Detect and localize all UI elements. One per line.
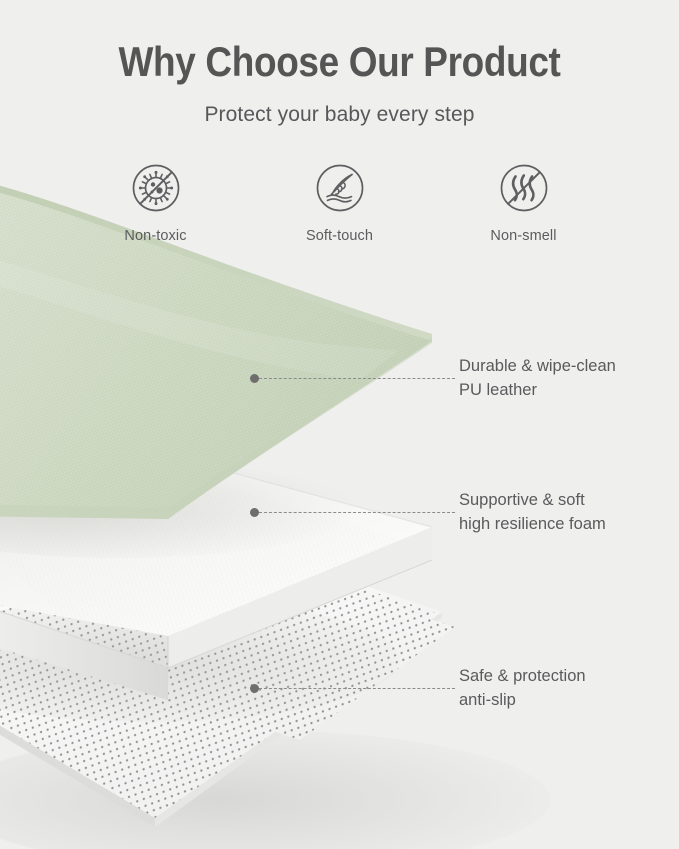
feature-label: Soft-touch: [306, 228, 373, 244]
callout-line-2: anti-slip: [459, 688, 586, 712]
callout-line-1: Durable & wipe-clean: [459, 354, 616, 378]
no-odor-icon: [496, 160, 552, 216]
callout-text-foam: Supportive & soft high resilience foam: [459, 488, 606, 536]
callout-line-2: high resilience foam: [459, 512, 606, 536]
product-infographic: Why Choose Our Product Protect your baby…: [0, 0, 679, 849]
callout-dot-anti-slip: [250, 684, 259, 693]
callout-dot-foam: [250, 508, 259, 517]
feature-label: Non-toxic: [124, 228, 186, 244]
callout-line-1: Safe & protection: [459, 664, 586, 688]
callout-text-pu-leather: Durable & wipe-clean PU leather: [459, 354, 616, 402]
callout-dot-pu-leather: [250, 374, 259, 383]
feature-label: Non-smell: [490, 228, 556, 244]
page-title: Why Choose Our Product: [41, 38, 639, 86]
feature-badge-row: Non-toxic: [0, 160, 679, 244]
callout-leader-line: [259, 378, 455, 379]
callout-line-2: PU leather: [459, 378, 616, 402]
feature-soft-touch: Soft-touch: [280, 160, 400, 244]
page-subtitle: Protect your baby every step: [0, 103, 679, 127]
product-layer-stack-illustration: [0, 0, 679, 849]
callout-leader-line: [259, 512, 455, 513]
callout-text-anti-slip: Safe & protection anti-slip: [459, 664, 586, 712]
callout-leader-line: [259, 688, 455, 689]
feature-non-toxic: Non-toxic: [96, 160, 216, 244]
no-germs-icon: [128, 160, 184, 216]
hand-touch-soft-surface-icon: [312, 160, 368, 216]
feature-non-smell: Non-smell: [464, 160, 584, 244]
callout-line-1: Supportive & soft: [459, 488, 606, 512]
